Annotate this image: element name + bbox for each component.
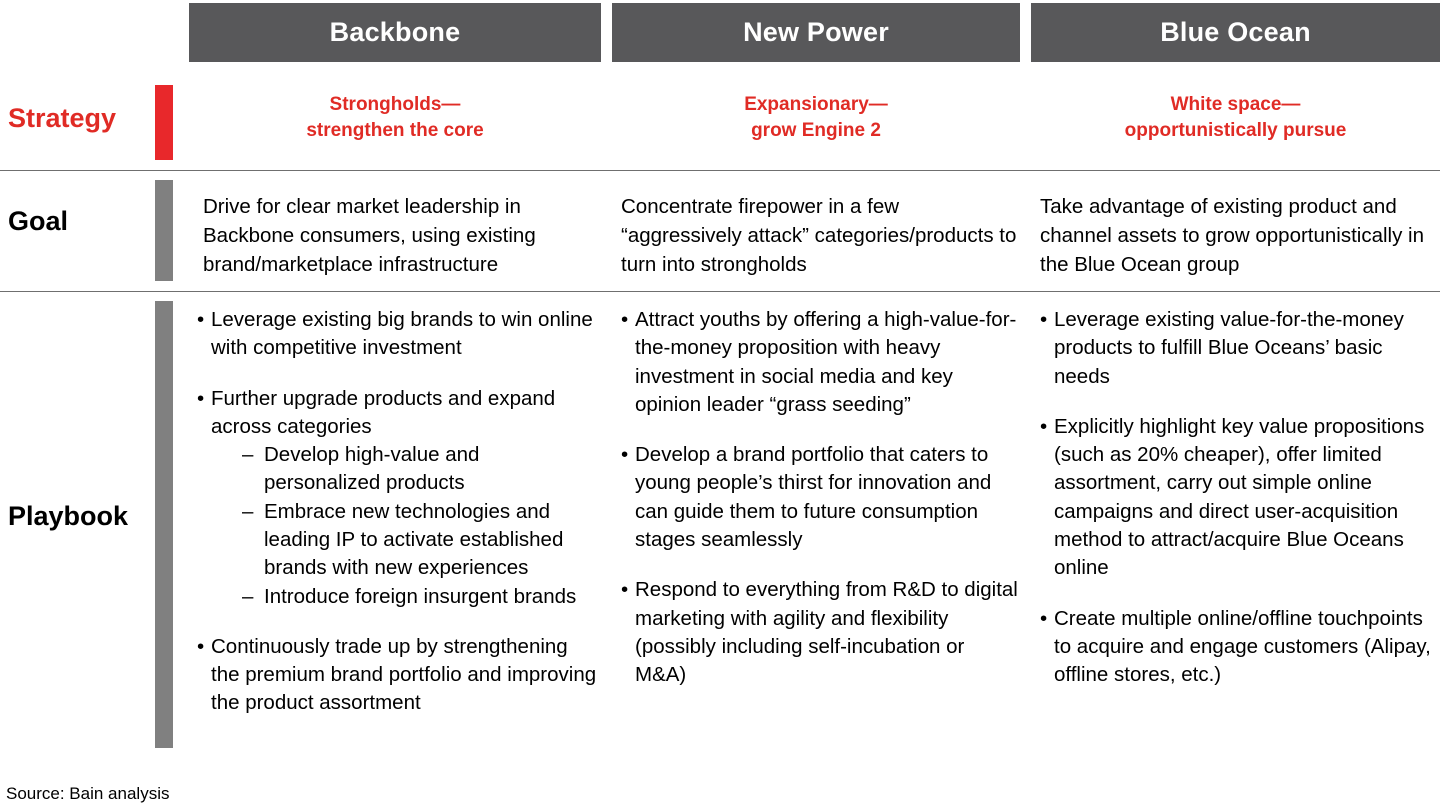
strategy-line-2: grow Engine 2 — [612, 118, 1020, 144]
playbook-cell-new-power: •Attract youths by offering a high-value… — [621, 306, 1019, 689]
playbook-bullet: •Leverage existing big brands to win onl… — [197, 306, 601, 363]
row-divider-strategy-goal — [0, 170, 1440, 171]
playbook-bullet-text: Create multiple online/offline touchpoin… — [1054, 605, 1440, 690]
playbook-cell-blue-ocean: •Leverage existing value-for-the-money p… — [1040, 306, 1440, 689]
strategy-cell-backbone: Strongholds— strengthen the core — [189, 92, 601, 143]
dash-icon: – — [242, 583, 253, 611]
playbook-sub-bullet-text: Develop high-value and personalized prod… — [264, 443, 479, 494]
bullet-dot-icon: • — [197, 385, 204, 413]
bullet-dot-icon: • — [621, 576, 628, 604]
goal-cell-new-power: Concentrate firepower in a few “aggressi… — [621, 192, 1021, 279]
goal-cell-backbone: Drive for clear market leadership in Bac… — [203, 192, 603, 279]
playbook-bullet-text: Attract youths by offering a high-value-… — [635, 306, 1019, 419]
bullet-dot-icon: • — [197, 633, 204, 661]
playbook-bullet-text: Respond to everything from R&D to digita… — [635, 576, 1019, 689]
source-note: Source: Bain analysis — [6, 784, 169, 804]
column-header-blue-ocean: Blue Ocean — [1031, 3, 1440, 62]
row-label-goal: Goal — [8, 207, 68, 235]
strategy-line-2: opportunistically pursue — [1031, 118, 1440, 144]
bullet-dot-icon: • — [621, 306, 628, 334]
playbook-bullet: •Develop a brand portfolio that caters t… — [621, 441, 1019, 554]
playbook-bullet-text: Explicitly highlight key value propositi… — [1054, 413, 1440, 583]
playbook-bullet-text: Continuously trade up by strengthening t… — [211, 633, 601, 718]
playbook-accent-bar — [155, 301, 173, 748]
playbook-sub-bullet: –Develop high-value and personalized pro… — [242, 441, 601, 498]
playbook-sub-bullet: –Introduce foreign insurgent brands — [242, 583, 601, 611]
row-label-strategy: Strategy — [8, 104, 116, 132]
playbook-sub-bullet-text: Embrace new technologies and leading IP … — [264, 500, 563, 580]
bullet-dot-icon: • — [621, 441, 628, 469]
playbook-bullet: •Attract youths by offering a high-value… — [621, 306, 1019, 419]
dash-icon: – — [242, 441, 253, 469]
bullet-dot-icon: • — [1040, 306, 1047, 334]
column-header-label: Blue Ocean — [1160, 17, 1311, 48]
column-header-label: Backbone — [330, 17, 461, 48]
playbook-cell-backbone: •Leverage existing big brands to win onl… — [197, 306, 601, 718]
strategy-line-1: White space— — [1031, 92, 1440, 118]
column-header-new-power: New Power — [612, 3, 1020, 62]
playbook-bullet-text: Further upgrade products and expand acro… — [211, 385, 601, 442]
dash-icon: – — [242, 498, 253, 526]
strategy-line-1: Expansionary— — [612, 92, 1020, 118]
playbook-bullet: •Leverage existing value-for-the-money p… — [1040, 306, 1440, 391]
bullet-dot-icon: • — [1040, 413, 1047, 441]
playbook-bullet-text: Develop a brand portfolio that caters to… — [635, 441, 1019, 554]
strategy-accent-bar — [155, 85, 173, 160]
strategy-line-2: strengthen the core — [189, 118, 601, 144]
playbook-sub-bullet: –Embrace new technologies and leading IP… — [242, 498, 601, 583]
playbook-sub-bullet-text: Introduce foreign insurgent brands — [264, 585, 576, 608]
playbook-bullet-text: Leverage existing value-for-the-money pr… — [1054, 306, 1440, 391]
playbook-bullet: •Explicitly highlight key value proposit… — [1040, 413, 1440, 583]
row-label-playbook: Playbook — [8, 502, 128, 530]
playbook-sub-list: –Develop high-value and personalized pro… — [211, 441, 601, 611]
column-header-backbone: Backbone — [189, 3, 601, 62]
bullet-dot-icon: • — [197, 306, 204, 334]
strategy-line-1: Strongholds— — [189, 92, 601, 118]
column-header-label: New Power — [743, 17, 889, 48]
row-divider-goal-playbook — [0, 291, 1440, 292]
strategy-matrix-slide: Backbone New Power Blue Ocean Strategy G… — [0, 0, 1440, 810]
playbook-bullet: •Further upgrade products and expand acr… — [197, 385, 601, 611]
bullet-dot-icon: • — [1040, 605, 1047, 633]
playbook-bullet: •Create multiple online/offline touchpoi… — [1040, 605, 1440, 690]
playbook-bullet-text: Leverage existing big brands to win onli… — [211, 306, 601, 363]
playbook-bullet: •Continuously trade up by strengthening … — [197, 633, 601, 718]
goal-cell-blue-ocean: Take advantage of existing product and c… — [1040, 192, 1440, 279]
playbook-bullet: •Respond to everything from R&D to digit… — [621, 576, 1019, 689]
goal-accent-bar — [155, 180, 173, 281]
strategy-cell-blue-ocean: White space— opportunistically pursue — [1031, 92, 1440, 143]
strategy-cell-new-power: Expansionary— grow Engine 2 — [612, 92, 1020, 143]
